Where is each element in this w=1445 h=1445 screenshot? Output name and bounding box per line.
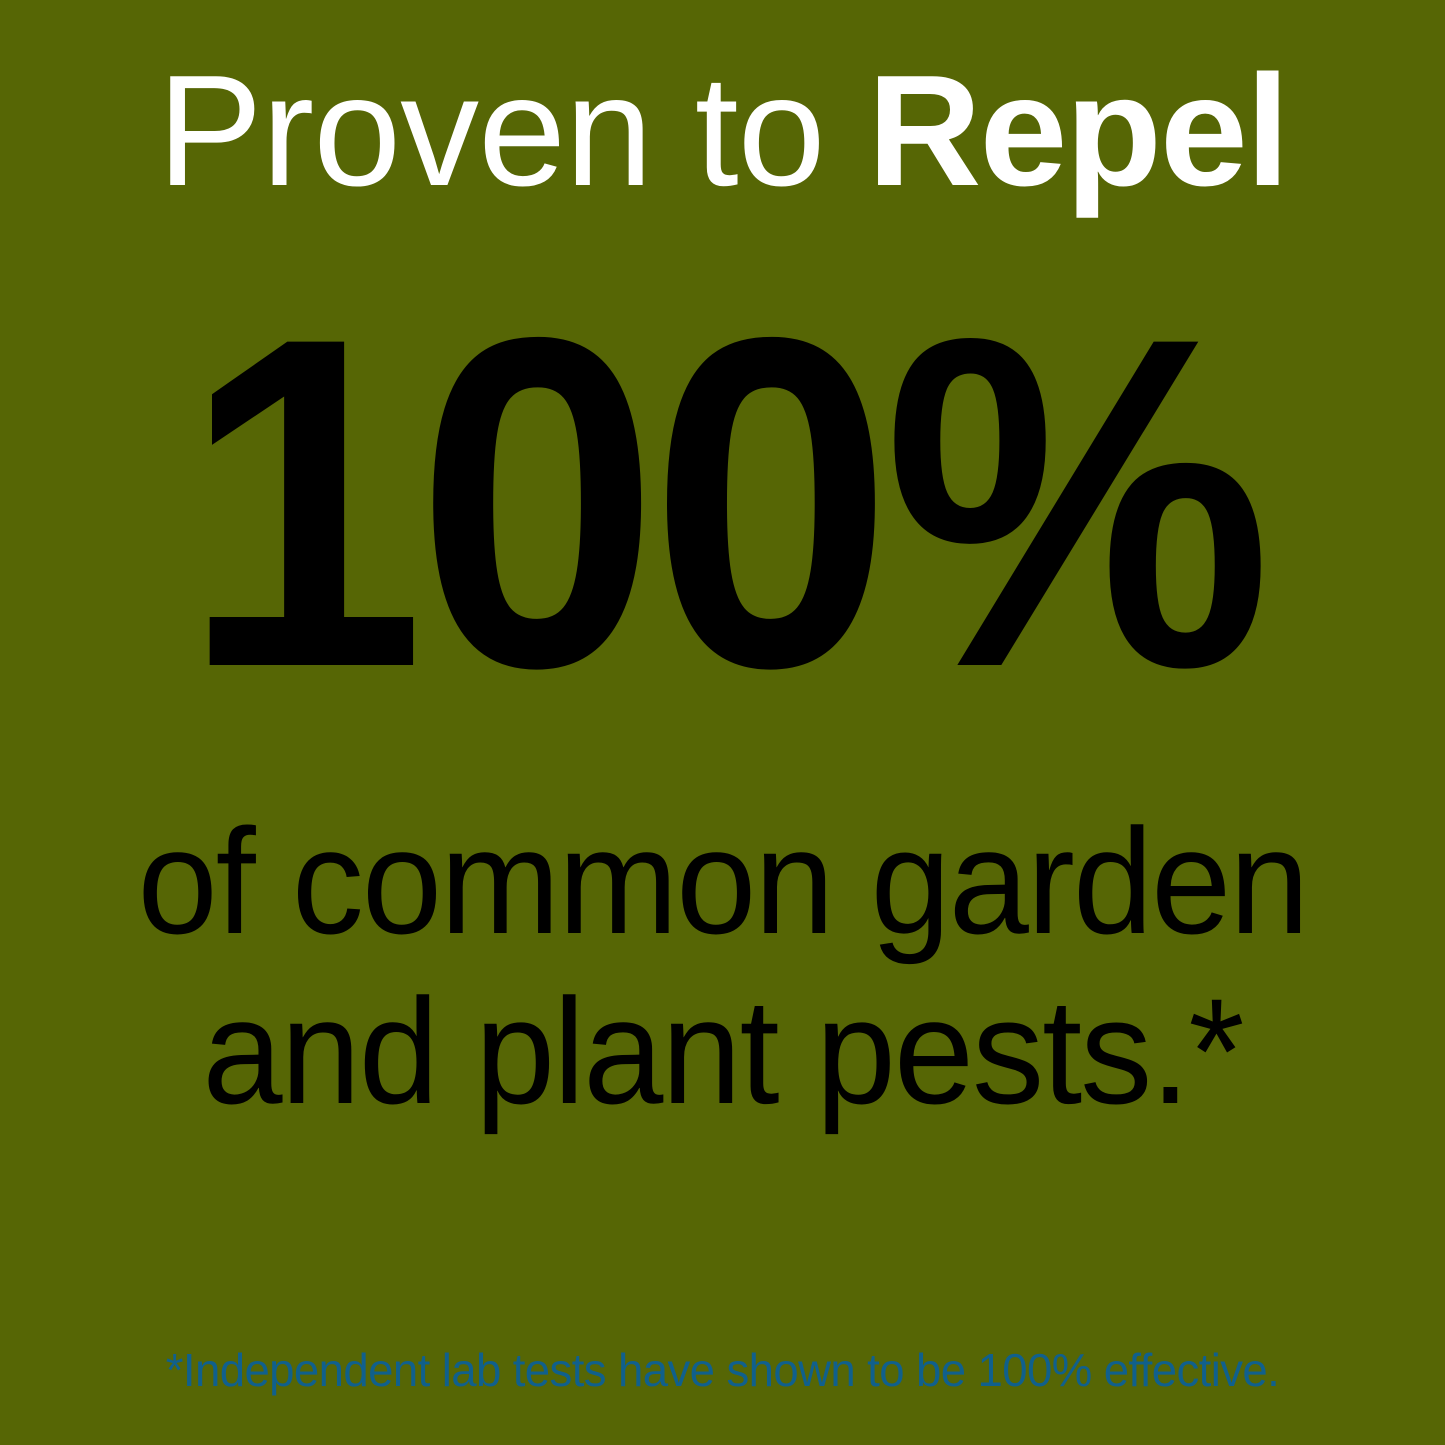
footnote-disclaimer: *Independent lab tests have shown to be …: [7, 1347, 1438, 1393]
body-copy-line-1: of common garden: [29, 796, 1416, 966]
hero-percentage: 100%: [51, 268, 1395, 738]
headline: Proven to Repel: [0, 52, 1445, 210]
headline-light-text: Proven to: [157, 43, 867, 219]
promotional-poster: Proven to Repel 100% of common garden an…: [0, 0, 1445, 1445]
headline-bold-text: Repel: [867, 43, 1287, 219]
body-copy-line-2: and plant pests.*: [29, 966, 1416, 1136]
body-copy: of common garden and plant pests.*: [29, 796, 1416, 1136]
